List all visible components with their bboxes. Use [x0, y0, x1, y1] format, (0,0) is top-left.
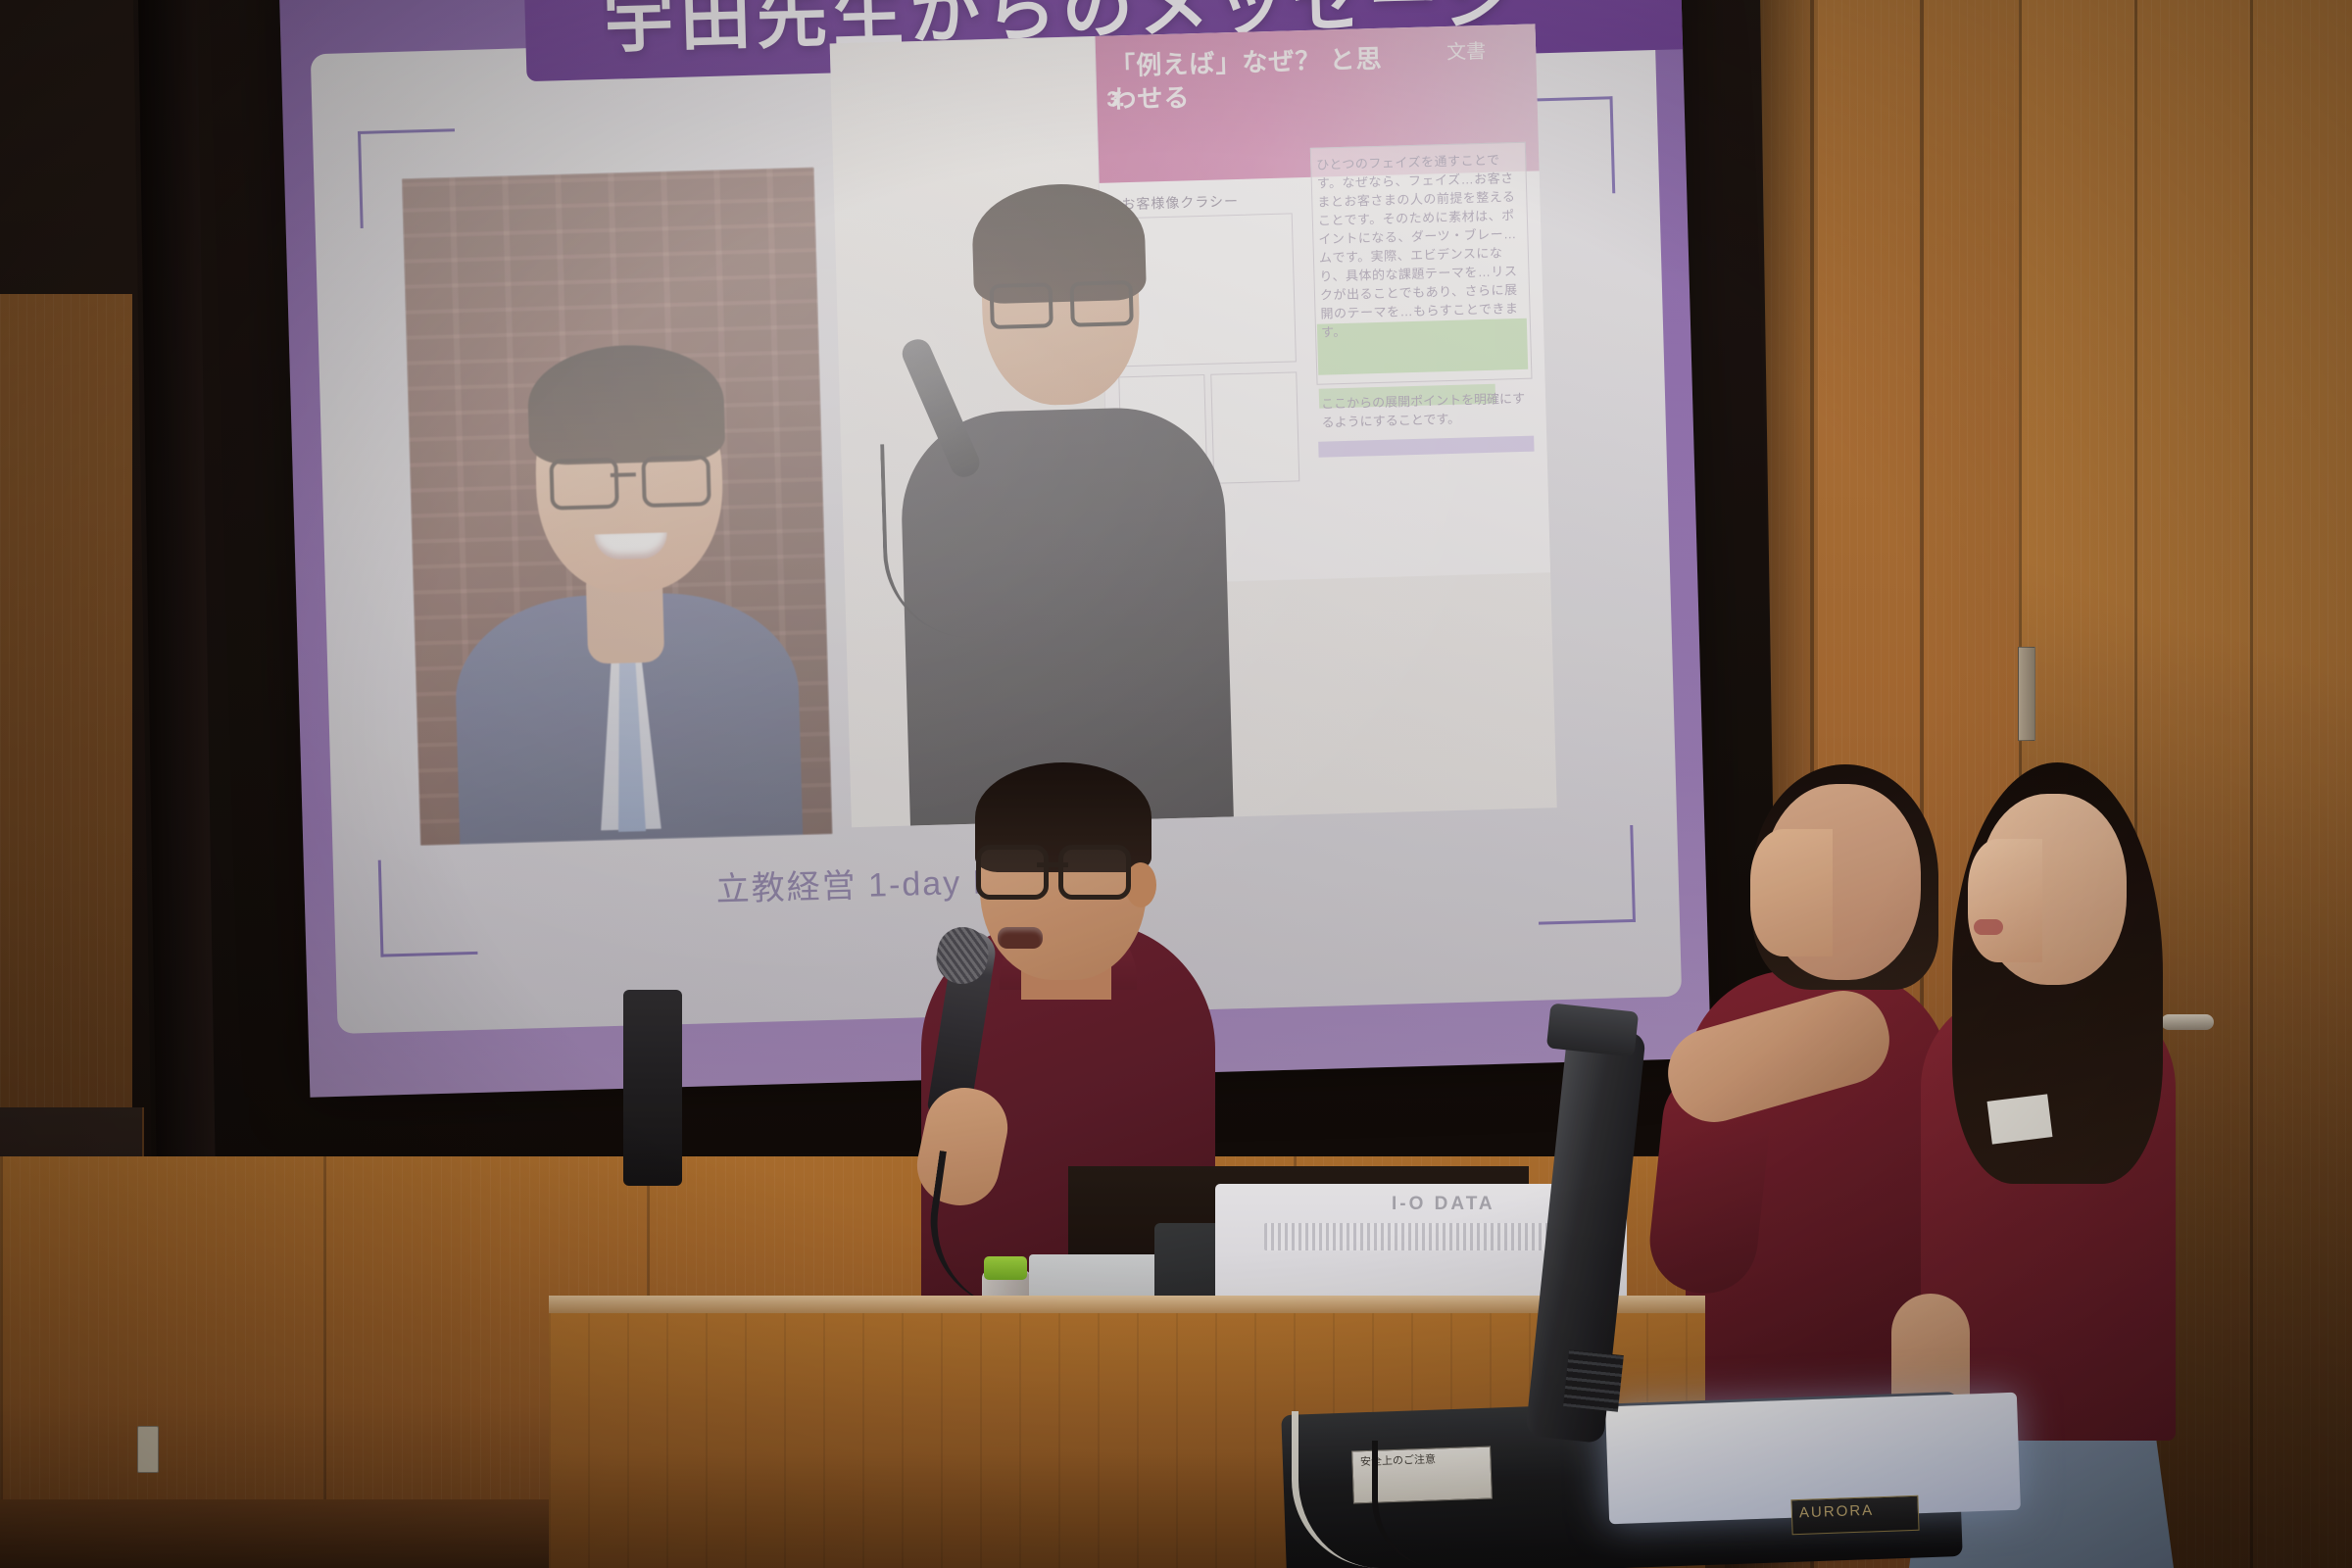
podium-top-surface	[549, 1296, 1705, 1313]
student-a-face	[1750, 829, 1833, 956]
presenter-glasses-icon	[976, 845, 1131, 890]
left-wood-wall	[0, 294, 132, 1176]
portrait-photo-haze	[402, 168, 832, 845]
corner-bracket-bottom-left-icon	[378, 857, 478, 957]
document-camera-vent	[1563, 1349, 1624, 1412]
wall-outlet[interactable]	[137, 1426, 159, 1473]
photo-scene: 宇田先生からのメッセージ 3. 「例えば」なぜ？ と思わせる 文書 お客	[0, 0, 2352, 1568]
student-b-face	[1968, 839, 2042, 962]
podium-black-device	[623, 990, 682, 1186]
presenter-mouth	[998, 927, 1043, 949]
presenter-glasses-bridge	[1037, 862, 1068, 867]
lecture-photo-haze	[830, 24, 1557, 827]
document-camera-head[interactable]	[1546, 1003, 1639, 1056]
student-b-name-badge	[1987, 1094, 2053, 1144]
door-hinge-icon	[2018, 647, 2035, 741]
water-bottle-cap[interactable]	[984, 1256, 1027, 1280]
document-camera-brand-label: AURORA	[1799, 1502, 1875, 1522]
corner-bracket-bottom-right-icon	[1536, 825, 1636, 925]
monitor-vent	[1264, 1223, 1588, 1250]
door-handle[interactable]	[2161, 1014, 2214, 1030]
slide-footer: 立教経営 1-day P	[715, 855, 998, 910]
student-b-lip	[1974, 919, 2003, 935]
monitor-brand-label: I-O DATA	[1392, 1194, 1495, 1215]
